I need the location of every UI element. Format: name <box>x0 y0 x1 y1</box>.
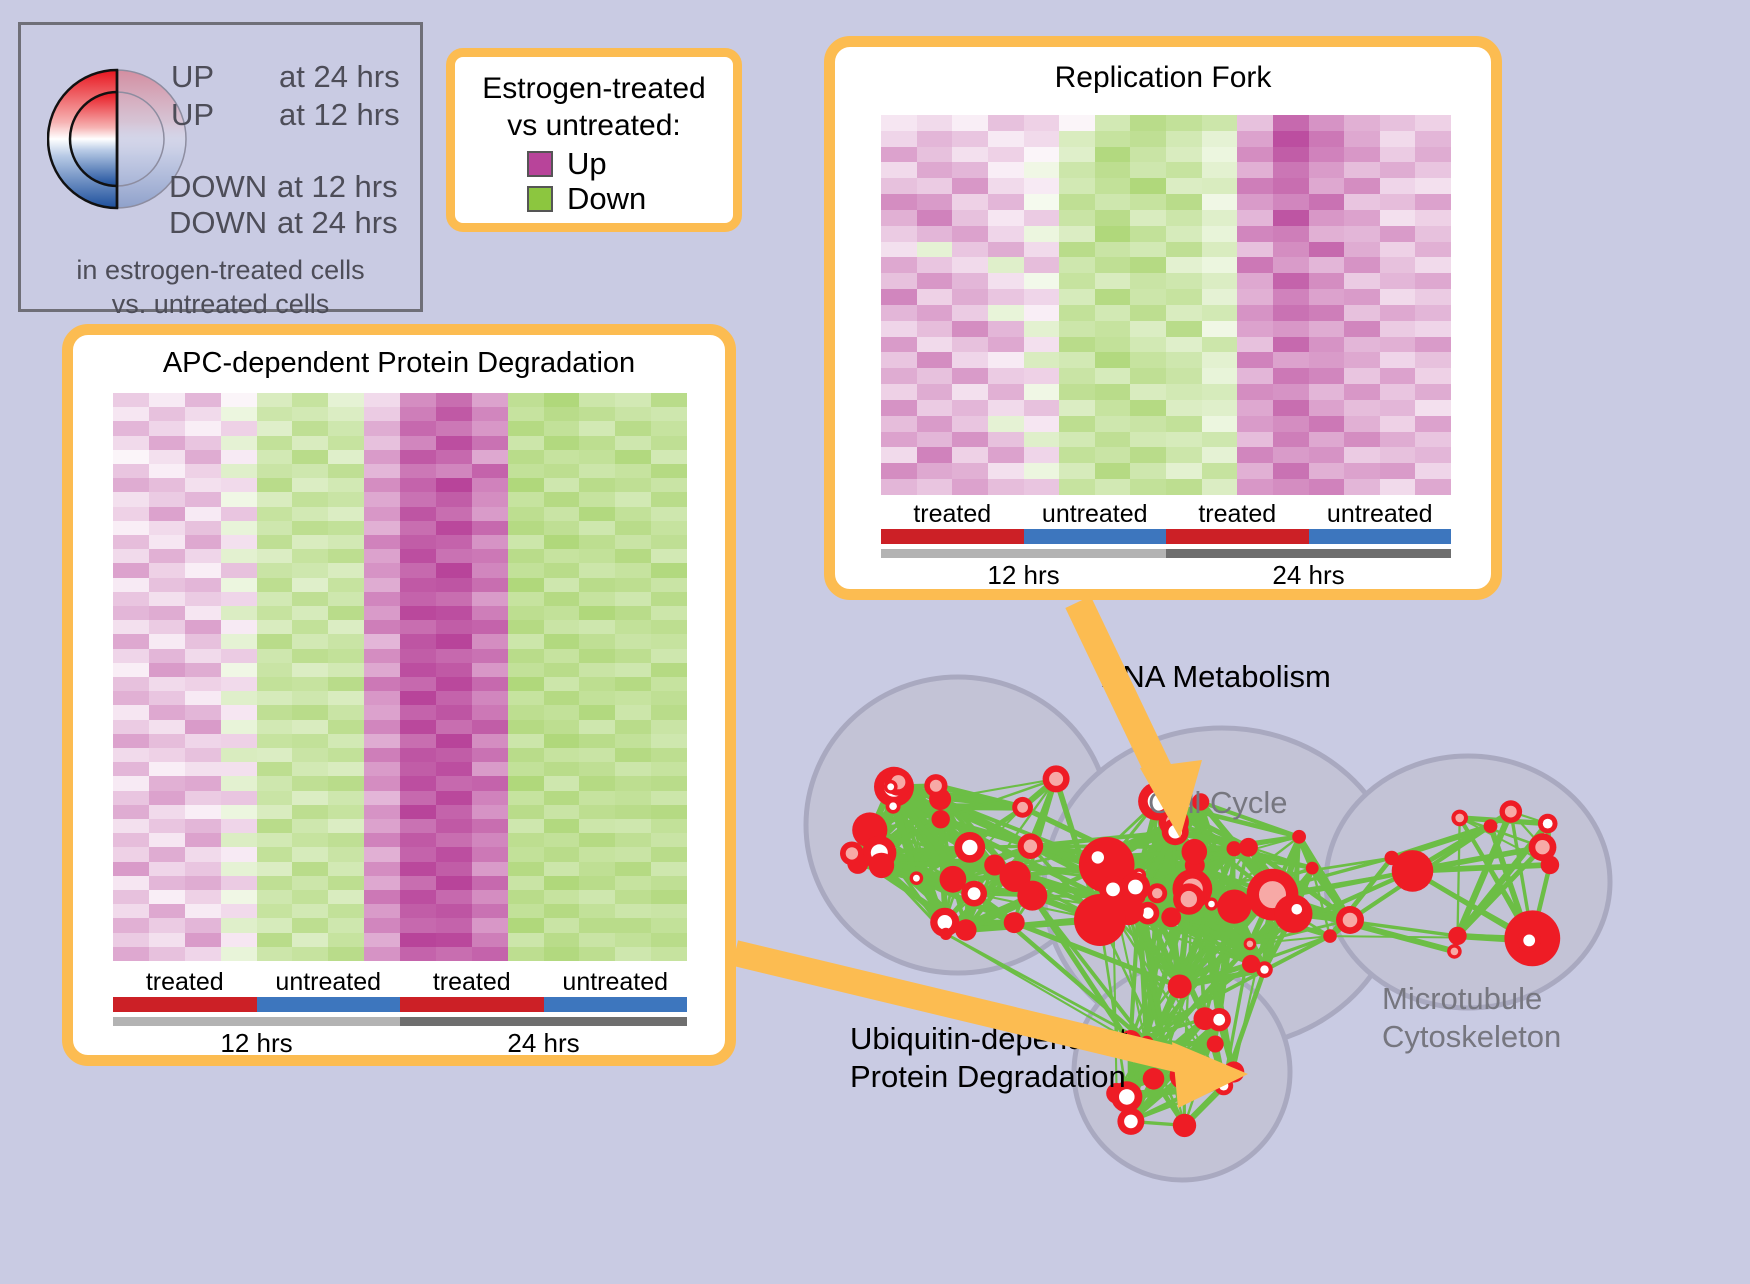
heatmap-cell <box>952 368 988 384</box>
heatmap-cell <box>113 890 149 904</box>
heatmap-cell <box>579 933 615 947</box>
network-node <box>1017 881 1047 911</box>
network-node-core <box>846 847 858 859</box>
heatmap-cell <box>1166 305 1202 321</box>
heatmap-cell <box>1344 337 1380 353</box>
heatmap-cell <box>328 691 364 705</box>
heatmap-cell <box>1059 147 1095 163</box>
time-label-apc-1: 24 hrs <box>400 1026 687 1060</box>
heatmap-cell <box>952 178 988 194</box>
heatmap-cell <box>544 762 580 776</box>
heatmap-cell <box>436 947 472 961</box>
heatmap-cell <box>1309 400 1345 416</box>
heatmap-cell <box>185 507 221 521</box>
heatmap-cell <box>508 464 544 478</box>
heatmap-cell <box>149 606 185 620</box>
heatmap-cell <box>508 876 544 890</box>
heatmap-cell <box>508 748 544 762</box>
heatmap-cell <box>881 416 917 432</box>
heatmap-cell <box>579 393 615 407</box>
heatmap-cell <box>364 393 400 407</box>
heatmap-cell <box>1130 147 1166 163</box>
heatmap-cell <box>472 649 508 663</box>
heatmap-cell <box>221 393 257 407</box>
network-node-core <box>1092 851 1104 863</box>
heatmap-cell <box>881 178 917 194</box>
heatmap-cell <box>952 162 988 178</box>
heatmap-cell <box>472 549 508 563</box>
heatmap-cell <box>436 918 472 932</box>
heatmap-cell <box>472 762 508 776</box>
time-bar-row-apc <box>113 1017 687 1026</box>
heatmap-cell <box>221 776 257 790</box>
heatmap-cell <box>651 507 687 521</box>
heatmap-cell <box>651 450 687 464</box>
heatmap-cell <box>1380 242 1416 258</box>
heatmap-cell <box>185 620 221 634</box>
heatmap-cell <box>1059 337 1095 353</box>
heatmap-cell <box>1166 432 1202 448</box>
heatmap-cell <box>292 677 328 691</box>
heatmap-replication-fork <box>881 115 1451 495</box>
heatmap-cell <box>579 904 615 918</box>
heatmap-cell <box>436 691 472 705</box>
sample-annotation-apc: treated untreated treated untreated 12 h… <box>113 967 687 1060</box>
heatmap-cell <box>1095 273 1131 289</box>
heatmap-cell <box>615 436 651 450</box>
heatmap-cell <box>917 447 953 463</box>
heatmap-cell <box>579 776 615 790</box>
heatmap-cell <box>579 847 615 861</box>
heatmap-cell <box>615 649 651 663</box>
heatmap-cell <box>988 210 1024 226</box>
heatmap-cell <box>292 805 328 819</box>
heatmap-cell <box>400 890 436 904</box>
heatmap-cell <box>328 563 364 577</box>
heatmap-cell <box>364 521 400 535</box>
heatmap-cell <box>364 847 400 861</box>
heatmap-cell <box>1202 321 1238 337</box>
heatmap-cell <box>149 734 185 748</box>
heatmap-cell <box>651 393 687 407</box>
heatmap-cell <box>257 521 293 535</box>
heatmap-cell <box>1309 289 1345 305</box>
heatmap-cell <box>1202 368 1238 384</box>
heatmap-cell <box>615 705 651 719</box>
heatmap-cell <box>1415 131 1451 147</box>
heatmap-cell <box>988 147 1024 163</box>
heatmap-cell <box>508 918 544 932</box>
heatmap-cell <box>364 549 400 563</box>
heatmap-cell <box>615 578 651 592</box>
heatmap-cell <box>364 620 400 634</box>
network-node-core <box>968 887 981 900</box>
network-node <box>1239 838 1258 857</box>
heatmap-cell <box>579 748 615 762</box>
heatmap-cell <box>185 677 221 691</box>
heatmap-cell <box>328 521 364 535</box>
heatmap-cell <box>1130 289 1166 305</box>
heatmap-cell <box>651 876 687 890</box>
heatmap-cell <box>1380 479 1416 495</box>
heatmap-cell <box>651 776 687 790</box>
heatmap-cell <box>113 862 149 876</box>
heatmap-cell <box>149 464 185 478</box>
heatmap-cell <box>508 393 544 407</box>
heatmap-cell <box>1237 178 1273 194</box>
heatmap-cell <box>917 162 953 178</box>
heatmap-cell <box>917 416 953 432</box>
heatmap-cell <box>292 592 328 606</box>
heatmap-cell <box>400 762 436 776</box>
heatmap-cell <box>221 549 257 563</box>
heatmap-cell <box>149 578 185 592</box>
heatmap-cell <box>988 226 1024 242</box>
network-node <box>1541 856 1560 875</box>
heatmap-cell <box>292 464 328 478</box>
heatmap-cell <box>400 521 436 535</box>
heatmap-cell <box>149 521 185 535</box>
heatmap-cell <box>472 663 508 677</box>
heatmap-cell <box>113 720 149 734</box>
heatmap-cell <box>221 833 257 847</box>
heatmap-cell <box>113 663 149 677</box>
heatmap-cell <box>988 337 1024 353</box>
heatmap-cell <box>1380 432 1416 448</box>
heatmap-cell <box>1273 131 1309 147</box>
heatmap-cell <box>292 407 328 421</box>
heatmap-cell <box>508 578 544 592</box>
heatmap-cell <box>1309 352 1345 368</box>
legend-item-up: Up <box>527 148 733 179</box>
heatmap-cell <box>1095 257 1131 273</box>
heatmap-cell <box>1130 447 1166 463</box>
heatmap-cell <box>472 776 508 790</box>
heatmap-cell <box>221 620 257 634</box>
heatmap-cell <box>364 890 400 904</box>
heatmap-cell <box>472 521 508 535</box>
heatmap-cell <box>1130 384 1166 400</box>
heatmap-cell <box>221 762 257 776</box>
heatmap-cell <box>1415 147 1451 163</box>
heatmap-cell <box>1309 447 1345 463</box>
heatmap-cell <box>113 677 149 691</box>
heatmap-cell <box>651 436 687 450</box>
heatmap-cell <box>1024 368 1060 384</box>
heatmap-cell <box>113 748 149 762</box>
heatmap-cell <box>1380 226 1416 242</box>
heatmap-cell <box>364 634 400 648</box>
heatmap-cell <box>579 606 615 620</box>
heatmap-cell <box>149 904 185 918</box>
heatmap-cell <box>1309 479 1345 495</box>
heatmap-cell <box>364 663 400 677</box>
heatmap-cell <box>1059 178 1095 194</box>
heatmap-cell <box>1309 115 1345 131</box>
heatmap-cell <box>221 578 257 592</box>
estrogen-legend-box: Estrogen-treated vs untreated: Up Down <box>446 48 742 232</box>
heatmap-cell <box>579 563 615 577</box>
heatmap-cell <box>400 549 436 563</box>
heatmap-cell <box>1202 447 1238 463</box>
heatmap-cell <box>544 450 580 464</box>
heatmap-cell <box>436 677 472 691</box>
heatmap-cell <box>472 734 508 748</box>
heatmap-cell <box>292 933 328 947</box>
heatmap-cell <box>579 677 615 691</box>
heatmap-cell <box>221 521 257 535</box>
heatmap-cell <box>292 421 328 435</box>
heatmap-cell <box>508 535 544 549</box>
heatmap-cell <box>508 663 544 677</box>
heatmap-cell <box>615 464 651 478</box>
key-word-down-24: DOWN <box>169 207 277 238</box>
heatmap-cell <box>651 748 687 762</box>
heatmap-cell <box>292 918 328 932</box>
heatmap-cell <box>292 535 328 549</box>
time-label-row-rf: 12 hrs 24 hrs <box>881 558 1451 592</box>
heatmap-cell <box>149 677 185 691</box>
heatmap-cell <box>185 791 221 805</box>
heatmap-cell <box>579 634 615 648</box>
heatmap-cell <box>1095 400 1131 416</box>
heatmap-cell <box>436 663 472 677</box>
heatmap-cell <box>436 805 472 819</box>
heatmap-cell <box>185 933 221 947</box>
heatmap-cell <box>1415 337 1451 353</box>
heatmap-cell <box>149 450 185 464</box>
heatmap-cell <box>544 805 580 819</box>
heatmap-cell <box>1415 384 1451 400</box>
heatmap-cell <box>1166 352 1202 368</box>
heatmap-cell <box>185 464 221 478</box>
heatmap-cell <box>328 492 364 506</box>
heatmap-cell <box>1095 194 1131 210</box>
heatmap-cell <box>1024 384 1060 400</box>
heatmap-cell <box>651 904 687 918</box>
heatmap-cell <box>149 847 185 861</box>
heatmap-cell <box>651 947 687 961</box>
heatmap-cell <box>472 393 508 407</box>
heatmap-cell <box>615 918 651 932</box>
heatmap-cell <box>1309 257 1345 273</box>
heatmap-cell <box>400 421 436 435</box>
heatmap-cell <box>328 592 364 606</box>
heatmap-cell <box>544 791 580 805</box>
heatmap-cell <box>1237 321 1273 337</box>
heatmap-cell <box>1095 368 1131 384</box>
heatmap-cell <box>149 507 185 521</box>
heatmap-cell <box>328 549 364 563</box>
heatmap-cell <box>436 819 472 833</box>
heatmap-cell <box>292 947 328 961</box>
heatmap-cell <box>544 890 580 904</box>
heatmap-cell <box>508 450 544 464</box>
heatmap-cell <box>917 368 953 384</box>
heatmap-cell <box>988 368 1024 384</box>
heatmap-cell <box>1344 162 1380 178</box>
heatmap-cell <box>508 563 544 577</box>
heatmap-cell <box>651 833 687 847</box>
heatmap-cell <box>1380 273 1416 289</box>
heatmap-cell <box>544 393 580 407</box>
network-node-core <box>938 915 953 930</box>
heatmap-cell <box>1237 194 1273 210</box>
heatmap-cell <box>113 563 149 577</box>
heatmap-cell <box>651 933 687 947</box>
heatmap-cell <box>1237 257 1273 273</box>
heatmap-cell <box>364 805 400 819</box>
heatmap-cell <box>292 393 328 407</box>
heatmap-cell <box>436 578 472 592</box>
heatmap-cell <box>328 947 364 961</box>
heatmap-cell <box>651 890 687 904</box>
heatmap-cell <box>1095 447 1131 463</box>
heatmap-cell <box>988 242 1024 258</box>
heatmap-cell <box>615 421 651 435</box>
heatmap-cell <box>988 273 1024 289</box>
heatmap-cell <box>472 791 508 805</box>
heatmap-cell <box>615 947 651 961</box>
heatmap-cell <box>1344 115 1380 131</box>
heatmap-cell <box>615 876 651 890</box>
heatmap-cell <box>292 734 328 748</box>
heatmap-cell <box>436 507 472 521</box>
network-node-core <box>1142 907 1153 918</box>
heatmap-cell <box>1380 115 1416 131</box>
sample-label-rf-2: treated <box>1166 499 1309 529</box>
heatmap-cell <box>1309 321 1345 337</box>
heatmap-cell <box>1273 162 1309 178</box>
heatmap-cell <box>1130 226 1166 242</box>
heatmap-cell <box>1237 131 1273 147</box>
heatmap-cell <box>1380 447 1416 463</box>
heatmap-cell <box>149 393 185 407</box>
heatmap-cell <box>221 478 257 492</box>
heatmap-cell <box>149 649 185 663</box>
heatmap-cell <box>292 762 328 776</box>
heatmap-cell <box>579 507 615 521</box>
network-node <box>984 855 1005 876</box>
heatmap-cell <box>257 563 293 577</box>
heatmap-cell <box>579 734 615 748</box>
heatmap-cell <box>881 384 917 400</box>
heatmap-cell <box>364 720 400 734</box>
heatmap-cell <box>185 862 221 876</box>
heatmap-cell <box>1024 479 1060 495</box>
heatmap-cell <box>257 805 293 819</box>
heatmap-cell <box>1202 305 1238 321</box>
heatmap-cell <box>1166 400 1202 416</box>
heatmap-cell <box>1059 447 1095 463</box>
heatmap-cell <box>185 748 221 762</box>
heatmap-cell <box>472 421 508 435</box>
heatmap-cell <box>988 305 1024 321</box>
heatmap-cell <box>257 649 293 663</box>
heatmap-cell <box>952 115 988 131</box>
sample-label-row-rf: treated untreated treated untreated <box>881 499 1451 529</box>
heatmap-cell <box>113 947 149 961</box>
heatmap-cell <box>952 400 988 416</box>
heatmap-cell <box>257 862 293 876</box>
heatmap-cell <box>257 634 293 648</box>
heatmap-cell <box>615 393 651 407</box>
heatmap-cell <box>113 918 149 932</box>
heatmap-cell <box>328 436 364 450</box>
heatmap-cell <box>1095 147 1131 163</box>
heatmap-cell <box>113 578 149 592</box>
heatmap-cell <box>651 705 687 719</box>
heatmap-cell <box>1024 273 1060 289</box>
heatmap-cell <box>651 862 687 876</box>
heatmap-cell <box>615 805 651 819</box>
heatmap-cell <box>400 407 436 421</box>
heatmap-cell <box>436 748 472 762</box>
heatmap-cell <box>1380 131 1416 147</box>
heatmap-cell <box>544 847 580 861</box>
heatmap-cell <box>1166 447 1202 463</box>
heatmap-cell <box>881 273 917 289</box>
heatmap-cell <box>257 791 293 805</box>
heatmap-cell <box>615 904 651 918</box>
heatmap-cell <box>952 194 988 210</box>
heatmap-cell <box>579 436 615 450</box>
heatmap-cell <box>1237 400 1273 416</box>
treatment-bar-apc-3 <box>544 997 688 1012</box>
heatmap-cell <box>292 748 328 762</box>
heatmap-cell <box>185 393 221 407</box>
heatmap-cell <box>185 450 221 464</box>
heatmap-cell <box>257 904 293 918</box>
heatmap-cell <box>257 663 293 677</box>
heatmap-cell <box>508 890 544 904</box>
heatmap-cell <box>436 933 472 947</box>
heatmap-cell <box>1024 352 1060 368</box>
heatmap-cell <box>221 720 257 734</box>
heatmap-cell <box>185 918 221 932</box>
key-row-down-24: DOWN at 24 hrs <box>169 207 398 238</box>
heatmap-cell <box>579 620 615 634</box>
heatmap-cell <box>149 492 185 506</box>
heatmap-cell <box>472 620 508 634</box>
heatmap-cell <box>221 705 257 719</box>
heatmap-cell <box>917 432 953 448</box>
heatmap-cell <box>1095 115 1131 131</box>
heatmap-cell <box>149 549 185 563</box>
heatmap-cell <box>579 762 615 776</box>
heatmap-cell <box>1130 479 1166 495</box>
heatmap-cell <box>400 947 436 961</box>
heatmap-cell <box>544 677 580 691</box>
cluster-label-microtubule-cytoskeleton: Microtubule Cytoskeleton <box>1382 980 1542 1056</box>
heatmap-cell <box>544 492 580 506</box>
heatmap-cell <box>1024 337 1060 353</box>
heatmap-cell <box>400 933 436 947</box>
heatmap-cell <box>328 407 364 421</box>
heatmap-cell <box>615 620 651 634</box>
heatmap-cell <box>185 663 221 677</box>
heatmap-cell <box>436 791 472 805</box>
heatmap-cell <box>472 890 508 904</box>
heatmap-cell <box>328 634 364 648</box>
heatmap-cell <box>436 705 472 719</box>
heatmap-cell <box>1166 210 1202 226</box>
heatmap-cell <box>113 734 149 748</box>
heatmap-cell <box>508 649 544 663</box>
time-bar-apc-24hrs <box>400 1017 687 1026</box>
network-node-core <box>889 802 897 810</box>
network-node-core <box>1017 802 1028 813</box>
